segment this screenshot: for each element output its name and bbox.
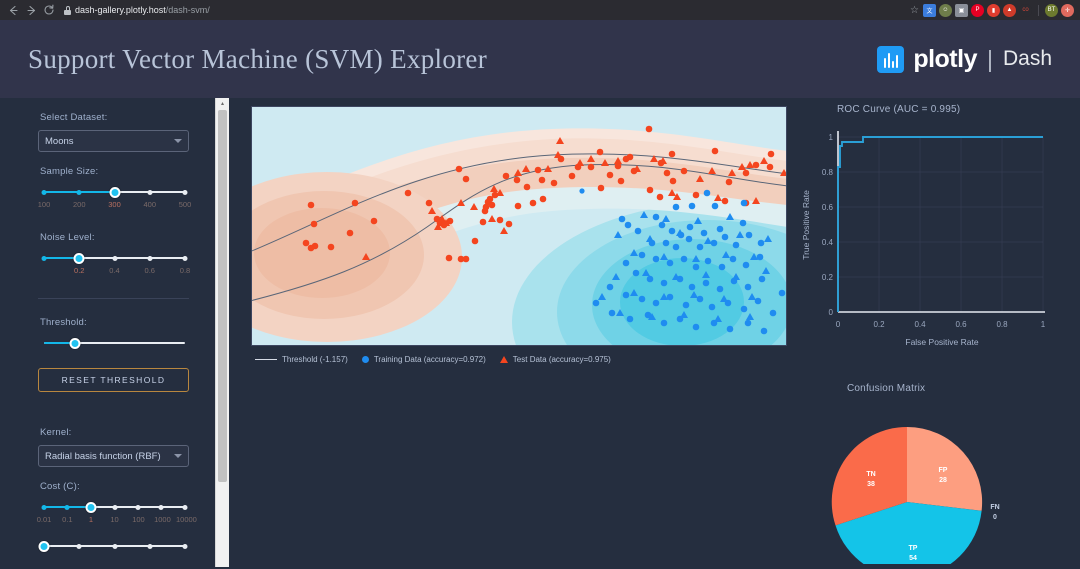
legend-label: Training Data (accuracy=0.972) <box>374 355 486 364</box>
translate-extension-icon[interactable]: 文 <box>923 4 936 17</box>
svm-decision-boundary-plot[interactable] <box>251 106 787 346</box>
pie-value-fp: 28 <box>939 477 947 484</box>
tick-label: 0.6 <box>145 266 155 275</box>
lock-icon <box>64 6 71 15</box>
sample-size-slider[interactable] <box>44 187 185 197</box>
smiley-extension-icon[interactable]: ☺ <box>939 4 952 17</box>
tick-label: 200 <box>73 200 86 209</box>
noise-level-slider[interactable] <box>44 253 185 263</box>
svg-text:1: 1 <box>1041 320 1046 329</box>
section-divider <box>38 298 189 299</box>
plotly-bar-logo-icon <box>877 46 904 73</box>
slider-tick[interactable] <box>183 505 188 510</box>
reset-threshold-group: RESET THRESHOLD <box>38 368 189 392</box>
svg-text:0.2: 0.2 <box>873 320 885 329</box>
sample-size-tick-labels: 100 200 300 400 500 <box>44 200 185 212</box>
pie-label-fn: FN <box>990 504 999 511</box>
screenshot-extension-icon[interactable]: ▣ <box>955 4 968 17</box>
tick-label: 1 <box>89 515 93 524</box>
svg-text:0.2: 0.2 <box>822 273 834 282</box>
url-host: dash-gallery.plotly.host <box>75 5 166 15</box>
svg-text:0.8: 0.8 <box>996 320 1008 329</box>
spacer <box>38 412 189 413</box>
confusion-matrix-plot[interactable]: FP 28 TN 38 TP 54 FN 0 <box>787 394 1079 564</box>
legend-item-test[interactable]: Test Data (accuracy=0.975) <box>500 355 611 364</box>
chevron-down-icon <box>174 139 182 143</box>
kernel-dropdown[interactable]: Radial basis function (RBF) <box>38 445 189 467</box>
svg-text:0.6: 0.6 <box>822 203 834 212</box>
dataset-label: Select Dataset: <box>40 112 189 123</box>
roc-curve-title: ROC Curve (AUC = 0.995) <box>837 104 1079 115</box>
slider-tick[interactable] <box>42 190 47 195</box>
plotly-dash-logo[interactable]: plotly | Dash <box>877 45 1052 74</box>
forward-arrow-icon[interactable] <box>22 1 40 19</box>
legend-circle-icon <box>362 356 369 363</box>
cookie-extension-icon[interactable]: co <box>1019 4 1032 17</box>
legend-label: Test Data (accuracy=0.975) <box>513 355 611 364</box>
threshold-control-group: Threshold: <box>38 317 189 348</box>
pie-value-tn: 38 <box>867 481 875 488</box>
slider-handle[interactable] <box>70 338 81 349</box>
gamma-control-group <box>38 541 189 551</box>
main-graph-legend: Threshold (-1.157) Training Data (accura… <box>251 355 787 364</box>
slider-handle[interactable] <box>39 541 50 552</box>
slider-tick[interactable] <box>65 505 70 510</box>
roc-xlabel: False Positive Rate <box>905 337 978 347</box>
tick-label: 10000 <box>176 515 197 524</box>
svg-text:0: 0 <box>829 308 834 317</box>
gamma-slider[interactable] <box>44 541 185 551</box>
kernel-label: Kernel: <box>40 427 189 438</box>
sample-size-label: Sample Size: <box>40 166 189 177</box>
dataset-selected-value: Moons <box>45 136 74 147</box>
slider-tick[interactable] <box>112 256 117 261</box>
slider-handle[interactable] <box>74 253 85 264</box>
svg-text:1: 1 <box>829 133 834 142</box>
svg-text:0.6: 0.6 <box>955 320 967 329</box>
tick-label: 300 <box>108 200 121 209</box>
tick-label: 500 <box>179 200 192 209</box>
slider-tick[interactable] <box>42 256 47 261</box>
roc-ylabel: True Positive Rate <box>801 190 811 260</box>
toolbar-divider <box>1038 5 1039 16</box>
brand-name: plotly <box>913 45 977 74</box>
cost-slider[interactable] <box>44 502 185 512</box>
scroll-up-arrow-icon[interactable]: ▴ <box>216 98 229 109</box>
controls-sidebar: Select Dataset: Moons Sample Size: 100 2… <box>0 98 215 567</box>
slider-tick[interactable] <box>135 505 140 510</box>
slider-tick[interactable] <box>112 544 117 549</box>
pie-label-fp: FP <box>939 467 948 474</box>
svg-text:0: 0 <box>836 320 841 329</box>
legend-item-training[interactable]: Training Data (accuracy=0.972) <box>362 355 486 364</box>
page-title: Support Vector Machine (SVM) Explorer <box>28 44 487 75</box>
tick-label: 1000 <box>154 515 171 524</box>
scroll-thumb[interactable] <box>218 110 227 482</box>
tick-label: 100 <box>38 200 51 209</box>
slider-tick[interactable] <box>183 190 188 195</box>
brand-divider: | <box>987 46 993 73</box>
app-header: Support Vector Machine (SVM) Explorer pl… <box>0 20 1080 98</box>
slider-tick[interactable] <box>183 256 188 261</box>
noise-level-control-group: Noise Level: 0.2 0.4 0.6 0.8 <box>38 232 189 278</box>
legend-line-icon <box>255 359 277 360</box>
dataset-control-group: Select Dataset: Moons <box>38 112 189 152</box>
pie-label-tn: TN <box>866 471 875 478</box>
app-body: Select Dataset: Moons Sample Size: 100 2… <box>0 98 1080 567</box>
confusion-matrix-title: Confusion Matrix <box>847 383 1079 394</box>
bookmark-star-icon[interactable]: ☆ <box>910 5 919 16</box>
address-bar[interactable]: dash-gallery.plotly.host/dash-svm/ <box>64 3 910 18</box>
slider-tick[interactable] <box>147 256 152 261</box>
ublock-extension-icon[interactable]: ▲ <box>1003 4 1016 17</box>
tick-label: 10 <box>110 515 118 524</box>
slider-handle[interactable] <box>109 187 120 198</box>
url-path: /dash-svm/ <box>166 5 210 15</box>
slider-tick[interactable] <box>147 190 152 195</box>
tick-label: 0.2 <box>74 266 84 275</box>
tick-label: 0.01 <box>37 515 52 524</box>
legend-triangle-icon <box>500 356 508 363</box>
cost-tick-labels: 0.01 0.1 1 10 100 1000 10000 <box>44 515 185 527</box>
tick-label: 0.4 <box>109 266 119 275</box>
slider-handle[interactable] <box>85 502 96 513</box>
noise-level-tick-labels: 0.2 0.4 0.6 0.8 <box>44 266 185 278</box>
legend-label: Threshold (-1.157) <box>282 355 348 364</box>
slider-tick[interactable] <box>77 544 82 549</box>
tick-label: 0.8 <box>180 266 190 275</box>
main-graph-column: Threshold (-1.157) Training Data (accura… <box>229 98 787 567</box>
right-graph-column: ROC Curve (AUC = 0.995) <box>787 98 1080 567</box>
pie-value-tp: 54 <box>909 555 917 562</box>
back-arrow-icon[interactable] <box>4 1 22 19</box>
brand-product: Dash <box>1003 47 1052 71</box>
cost-label: Cost (C): <box>40 481 189 492</box>
svg-text:0.8: 0.8 <box>822 168 834 177</box>
slider-tick[interactable] <box>147 544 152 549</box>
dataset-dropdown[interactable]: Moons <box>38 130 189 152</box>
threshold-label: Threshold: <box>40 317 189 328</box>
svg-text:0.4: 0.4 <box>822 238 834 247</box>
threshold-slider[interactable] <box>44 338 185 348</box>
slider-tick[interactable] <box>183 544 188 549</box>
chevron-down-icon <box>174 454 182 458</box>
tick-label: 400 <box>143 200 156 209</box>
noise-level-label: Noise Level: <box>40 232 189 243</box>
tick-label: 0.1 <box>62 515 72 524</box>
pinterest-extension-icon[interactable]: P <box>971 4 984 17</box>
pie-label-tp: TP <box>909 545 918 552</box>
browser-toolbar: dash-gallery.plotly.host/dash-svm/ ☆ 文 ☺… <box>0 0 1080 20</box>
adblock-extension-icon[interactable]: ▮ <box>987 4 1000 17</box>
pie-value-fn: 0 <box>993 514 997 521</box>
kernel-selected-value: Radial basis function (RBF) <box>45 451 161 462</box>
extension-tray: 文 ☺ ▣ P ▮ ▲ co BT ✛ <box>923 4 1076 17</box>
reset-threshold-button[interactable]: RESET THRESHOLD <box>38 368 189 392</box>
kernel-control-group: Kernel: Radial basis function (RBF) <box>38 427 189 467</box>
legend-item-threshold[interactable]: Threshold (-1.157) <box>255 355 348 364</box>
slider-tick[interactable] <box>112 505 117 510</box>
sample-size-control-group: Sample Size: 100 200 300 400 500 <box>38 166 189 212</box>
svm-decision-boundary-card: Threshold (-1.157) Training Data (accura… <box>251 106 787 364</box>
reload-icon[interactable] <box>40 1 58 19</box>
user-avatar[interactable]: ✛ <box>1061 4 1074 17</box>
slider-tick[interactable] <box>42 505 47 510</box>
slider-tick[interactable] <box>159 505 164 510</box>
bt-extension-icon[interactable]: BT <box>1045 4 1058 17</box>
tick-label: 100 <box>132 515 145 524</box>
roc-curve-plot[interactable]: 1 0.8 0.6 0.4 0.2 0 0 0.2 0.4 0.6 0.8 1 … <box>787 117 1079 367</box>
cost-control-group: Cost (C): 0.01 0.1 1 10 100 1000 <box>38 481 189 527</box>
svg-text:0.4: 0.4 <box>914 320 926 329</box>
slider-tick[interactable] <box>77 190 82 195</box>
vertical-scrollbar[interactable]: ▴ <box>215 98 229 567</box>
